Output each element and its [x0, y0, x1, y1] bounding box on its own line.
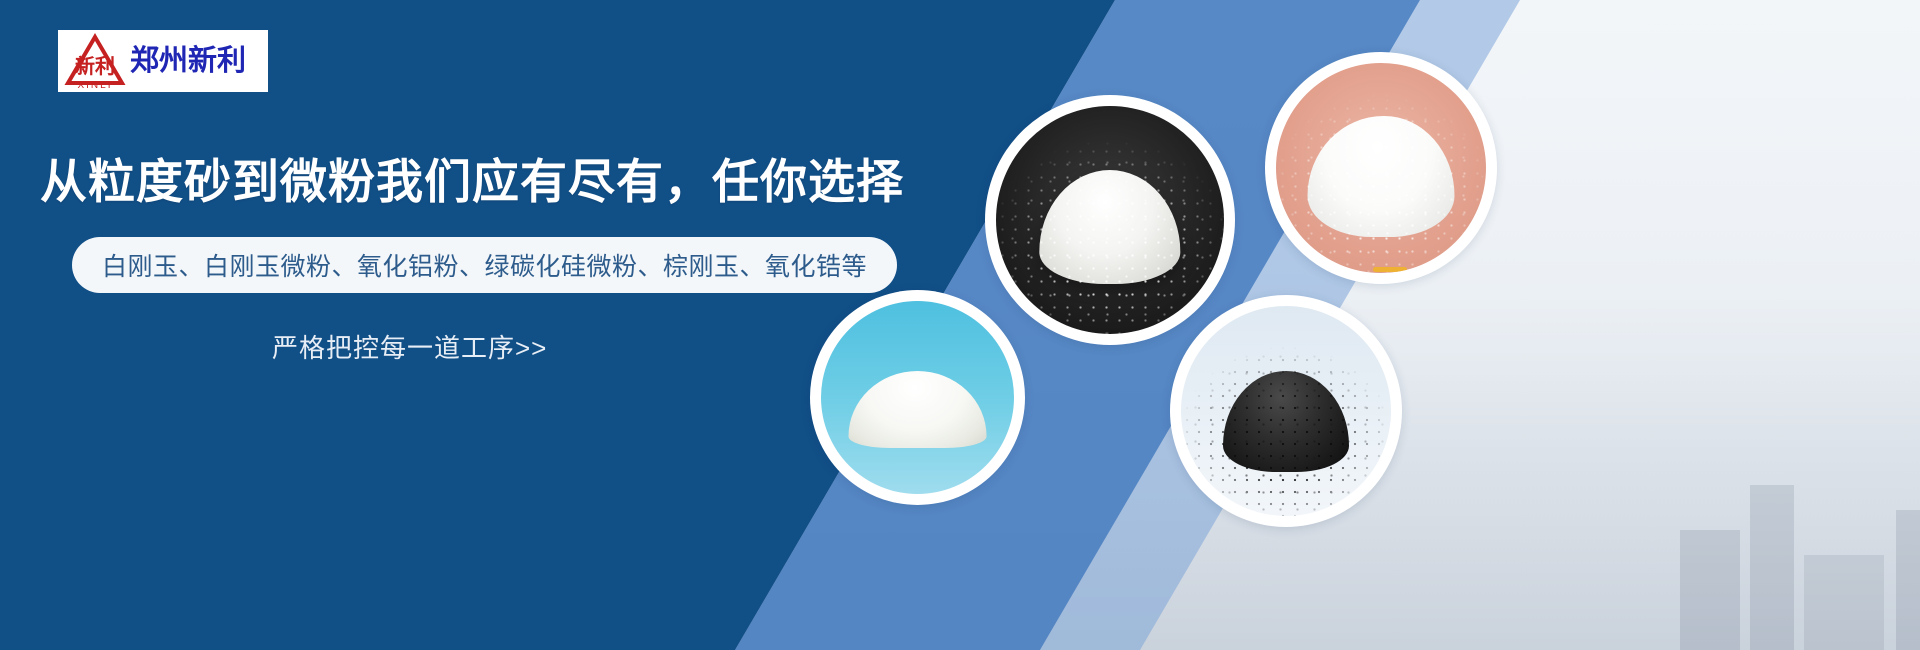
headline: 从粒度砂到微粉我们应有尽有，任你选择 — [40, 143, 904, 212]
promo-banner: 新利 XINLI 郑州新利 从粒度砂到微粉我们应有尽有，任你选择 白刚玉、白刚玉… — [0, 0, 1920, 650]
xinli-triangle-logo-icon: 新利 XINLI — [64, 33, 126, 89]
product-photo-white-alumina-micropowder — [1276, 63, 1486, 273]
product-circle-black-silicon-carbide-grit[interactable] — [1170, 295, 1402, 527]
photo-edge-accent — [1373, 267, 1407, 272]
product-photo-alumina-powder — [821, 301, 1014, 494]
logo-company-name: 郑州新利 — [130, 47, 246, 76]
product-circle-alumina-powder[interactable] — [810, 290, 1025, 505]
product-circle-white-fused-alumina-grit[interactable] — [985, 95, 1235, 345]
product-list-text: 白刚玉、白刚玉微粉、氧化铝粉、绿碳化硅微粉、棕刚玉、氧化锆等 — [102, 247, 867, 283]
company-logo[interactable]: 新利 XINLI 郑州新利 — [58, 30, 268, 92]
product-circle-white-alumina-micropowder[interactable] — [1265, 52, 1497, 284]
svg-text:新利: 新利 — [75, 54, 115, 78]
product-photo-white-fused-alumina-grit — [996, 106, 1224, 334]
svg-text:XINLI: XINLI — [77, 80, 112, 89]
product-list-pill: 白刚玉、白刚玉微粉、氧化铝粉、绿碳化硅微粉、棕刚玉、氧化锆等 — [72, 237, 897, 293]
quality-tagline-link[interactable]: 严格把控每一道工序>> — [272, 328, 547, 365]
product-photo-black-silicon-carbide-grit — [1181, 306, 1391, 516]
